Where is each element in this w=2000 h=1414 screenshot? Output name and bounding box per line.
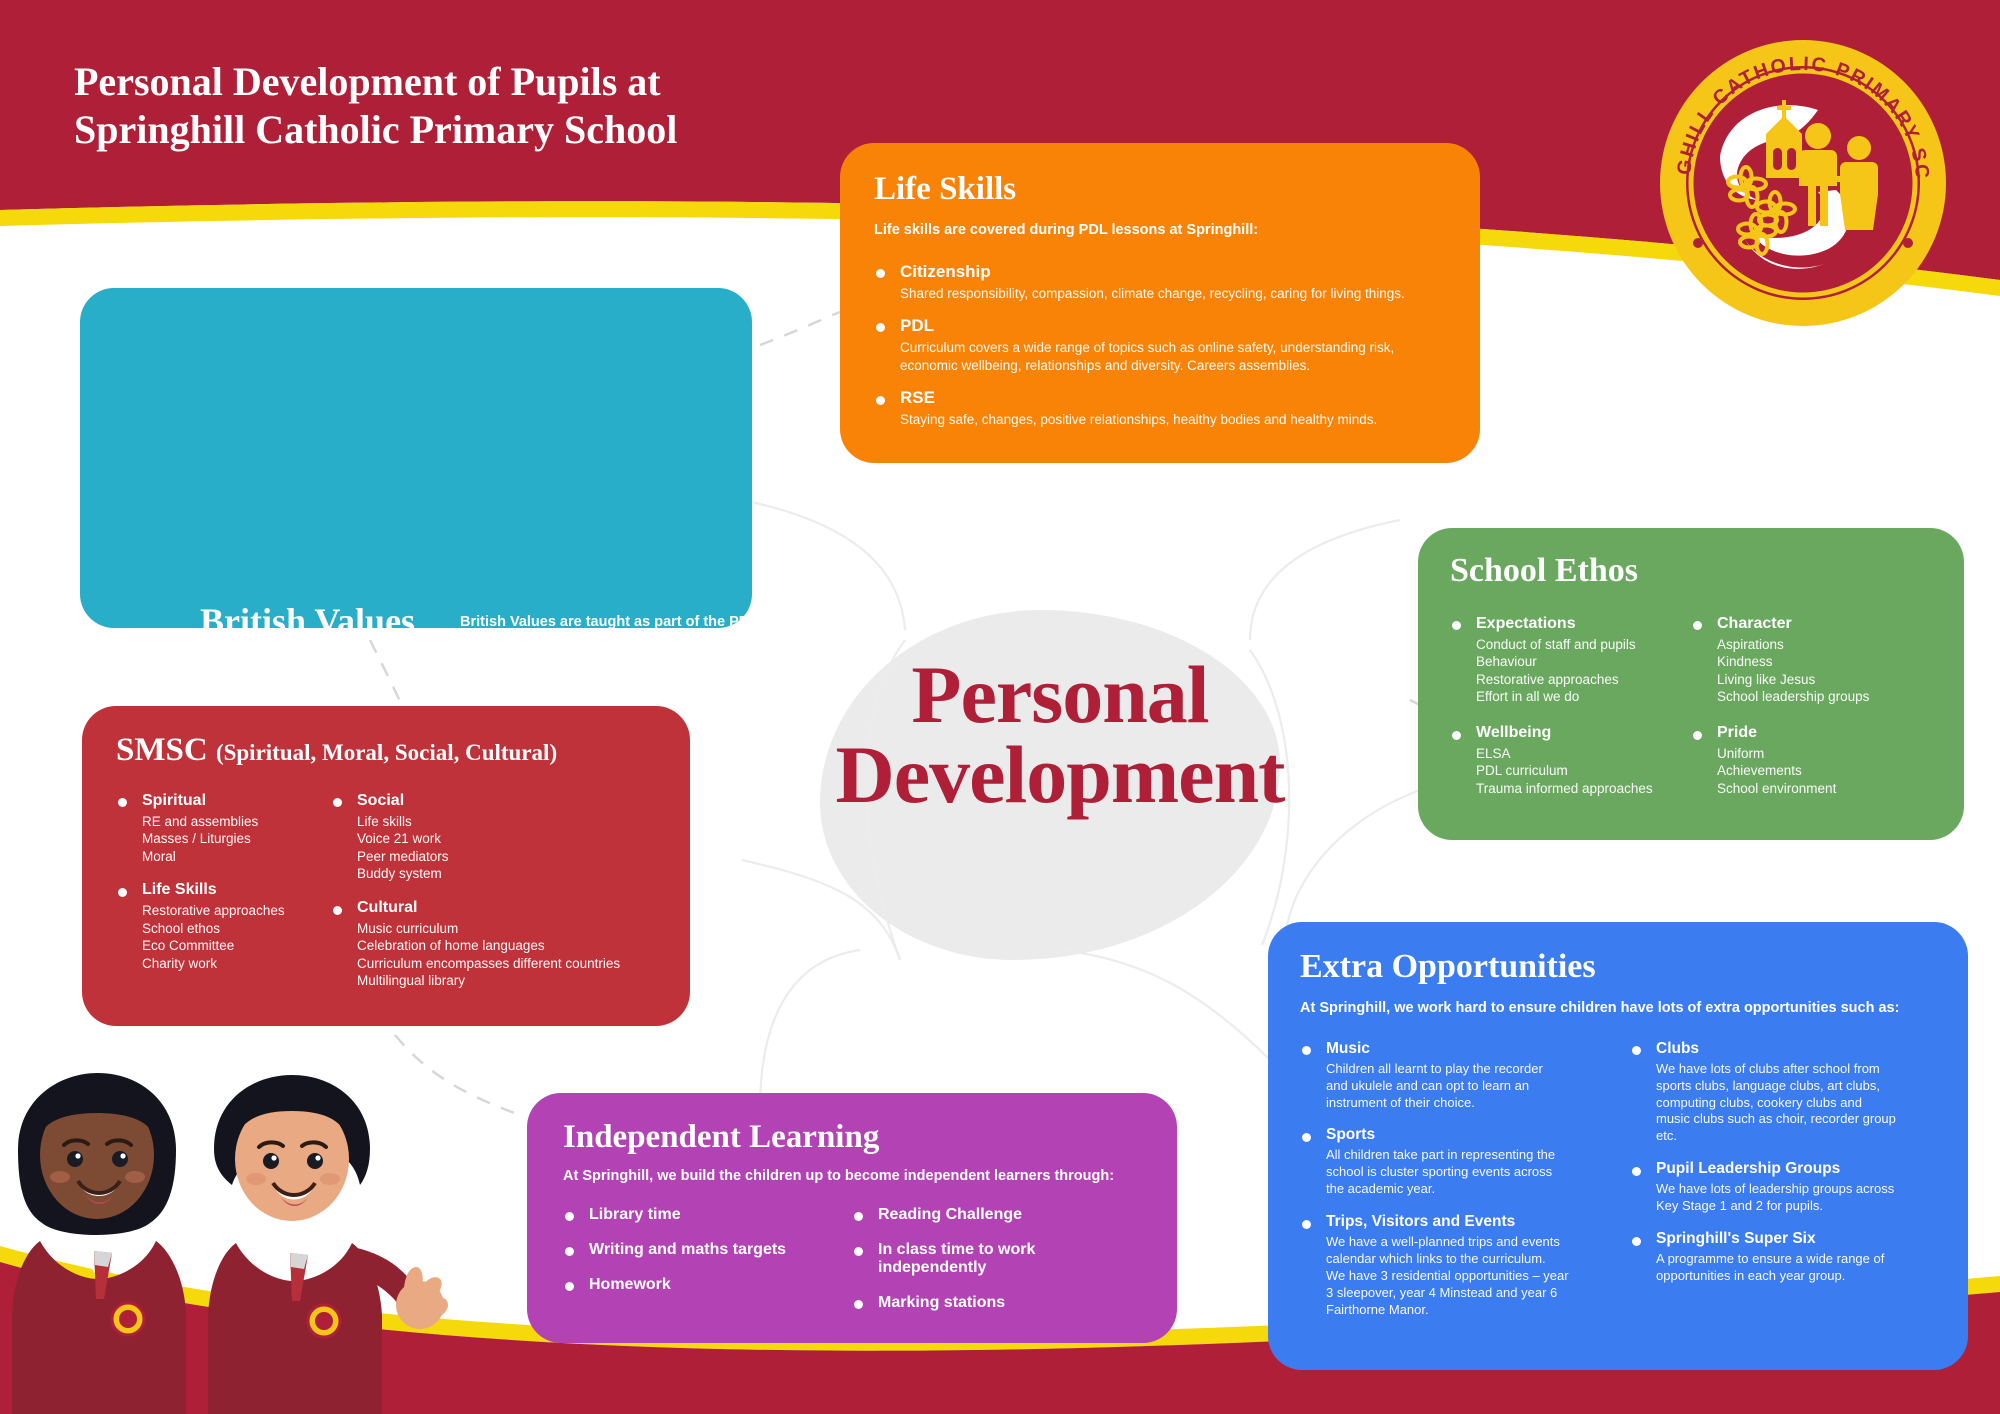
bullet-heading: Life Skills (116, 881, 331, 899)
bullet-group: Expectations Conduct of staff and pupils… (1450, 615, 1681, 706)
bullet-detail-line: Achievements (1717, 762, 1922, 780)
pupils-illustration (0, 1055, 470, 1414)
bullet-detail-line: We have 3 residential opportunities – ye… (1326, 1268, 1614, 1285)
bullet-heading: Trips, Visitors and Events (1300, 1213, 1614, 1231)
bullet-heading: Pride (1691, 724, 1922, 742)
bullet-detail-line: Eco Committee (142, 937, 331, 955)
bullet-heading: Springhill's Super Six (1630, 1230, 1936, 1248)
bullet-detail-line: We have lots of leadership groups across (1656, 1181, 1936, 1198)
bullet-detail-line: All children take part in representing t… (1326, 1147, 1614, 1164)
bullet-heading: PDL (874, 316, 1446, 336)
centre-label-line2: Development (730, 735, 1390, 815)
bullet-detail-line: Effort in all we do (1476, 688, 1681, 706)
bullet-detail-line: and ukulele and can opt to learn an (1326, 1078, 1614, 1095)
bullet-detail-line: PDL curriculum (1476, 762, 1681, 780)
bullet-detail-line: Key Stage 1 and 2 for pupils. (1656, 1198, 1936, 1215)
bullet-heading: Mutual Respect (507, 678, 822, 697)
bullet-detail-line: School leadership groups (1717, 688, 1922, 706)
bullet-heading: Cultural (331, 899, 656, 917)
card-extra-opportunities-intro: At Springhill, we work hard to ensure ch… (1300, 999, 1936, 1018)
page-title-line1: Personal Development of Pupils at (74, 58, 677, 106)
bullet-detail-line: RE and assemblies (142, 813, 331, 831)
bullet-detail: Aspirations Kindness Living like Jesus S… (1691, 636, 1922, 706)
list-item: Library time (563, 1206, 852, 1224)
school-crest-logo: SPRINGHILL CATHOLIC PRIMARY SCHOOL SOUTH… (1658, 38, 1948, 328)
bullet-detail-line: Trauma informed approaches (1476, 780, 1681, 798)
bullet-detail-line: Charity work (142, 955, 331, 973)
bullet-detail-line: instrument of their choice. (1326, 1095, 1614, 1112)
card-british-values[interactable]: British Values British Values are taught… (80, 288, 752, 628)
bullet-detail-line: Voice 21 work (357, 830, 656, 848)
bullet-detail-line: Peer mediators (357, 848, 656, 866)
bullet-detail-line: sports clubs, language clubs, art clubs, (1656, 1078, 1936, 1095)
bullet-heading: Clubs (1630, 1040, 1936, 1058)
bullet-detail: We have lots of leadership groups across… (1630, 1181, 1936, 1215)
card-independent-learning-title: Independent Learning (563, 1121, 1141, 1155)
bullet-detail-line: School environment (1717, 780, 1922, 798)
bullet-detail-line: Music curriculum (357, 920, 656, 938)
bullet-detail-line: opportunities in each year group. (1656, 1268, 1936, 1285)
bullet-group: Clubs We have lots of clubs after school… (1630, 1040, 1936, 1145)
bullet-detail-line: Children all learnt to play the recorder (1326, 1061, 1614, 1078)
card-british-values-title: British Values (200, 603, 415, 640)
card-smsc[interactable]: SMSC (Spiritual, Moral, Social, Cultural… (82, 706, 690, 1026)
bullet-group: RSE Staying safe, changes, positive rela… (874, 388, 1446, 429)
bullet-detail: A programme to ensure a wide range of op… (1630, 1251, 1936, 1285)
pupil-boy (208, 1075, 448, 1414)
bullet-detail: All children take part in representing t… (1300, 1147, 1614, 1198)
bullet-detail-line: Aspirations (1717, 636, 1922, 654)
card-school-ethos[interactable]: School Ethos Expectations Conduct of sta… (1418, 528, 1964, 840)
bullet-detail-line: Shared responsibility, compassion, clima… (900, 285, 1446, 303)
independent-learning-right-column: Reading Challenge In class time to work … (852, 1206, 1141, 1329)
centre-label-line1: Personal (730, 655, 1390, 735)
centre-label: Personal Development (730, 655, 1390, 814)
bullet-detail: Curriculum covers a wide range of topics… (874, 339, 1446, 374)
bullet-detail-line: A programme to ensure a wide range of (1656, 1251, 1936, 1268)
bullet-group: Pride Uniform Achievements School enviro… (1691, 724, 1922, 798)
bullet-heading: RSE (874, 388, 1446, 408)
bullet-detail-line: school is cluster sporting events across (1326, 1164, 1614, 1181)
independent-learning-left-column: Library time Writing and maths targets H… (563, 1206, 852, 1329)
bullet-detail: We have lots of clubs after school from … (1630, 1061, 1936, 1145)
bullet-detail-line: 3 sleepover, year 4 Minstead and year 6 (1326, 1285, 1614, 1302)
bullet-group: Wellbeing ELSA PDL curriculum Trauma inf… (1450, 724, 1681, 798)
bullet-detail-line: We have a well-planned trips and events (1326, 1234, 1614, 1251)
card-school-ethos-title: School Ethos (1450, 554, 1932, 589)
bullet-group: Life Skills Restorative approaches Schoo… (116, 881, 331, 972)
bullet-detail: Uniform Achievements School environment (1691, 745, 1922, 798)
card-extra-opportunities-title: Extra Opportunities (1300, 950, 1936, 985)
bullet-detail-line: Conduct of staff and pupils (1476, 636, 1681, 654)
bullet-detail-line: Moral (142, 848, 331, 866)
bullet-detail-line: Staying safe, changes, positive relation… (900, 411, 1446, 429)
bullet-detail: Shared responsibility, compassion, clima… (874, 285, 1446, 303)
poster-canvas: Personal Development of Pupils at Spring… (0, 0, 2000, 1414)
bullet-detail: Restorative approaches School ethos Eco … (116, 902, 331, 972)
bullet-detail: RE and assemblies Masses / Liturgies Mor… (116, 813, 331, 866)
bullet-detail: Life skills Voice 21 work Peer mediators… (331, 813, 656, 883)
list-item: Reading Challenge (852, 1206, 1141, 1224)
bullet-heading: Sports (1300, 1126, 1614, 1144)
list-item: Homework (563, 1276, 852, 1294)
bullet-detail: Staying safe, changes, positive relation… (874, 411, 1446, 429)
bullet-detail-line: computing clubs, cookery clubs and (1656, 1095, 1936, 1112)
bullet-heading: Expectations (1450, 615, 1681, 633)
bullet-group: Spiritual RE and assemblies Masses / Lit… (116, 792, 331, 866)
list-item: Marking stations (852, 1294, 1141, 1312)
bullet-detail: We have a well-planned trips and events … (1300, 1234, 1614, 1318)
bullet-group: Character Aspirations Kindness Living li… (1691, 615, 1922, 706)
bullet-detail-line: Life skills (357, 813, 656, 831)
card-independent-learning-intro: At Springhill, we build the children up … (563, 1167, 1141, 1186)
bullet-heading: Pupil Leadership Groups (1630, 1160, 1936, 1178)
bullet-group: Citizenship Shared responsibility, compa… (874, 262, 1446, 303)
smsc-right-column: Social Life skills Voice 21 work Peer me… (331, 792, 656, 1006)
smsc-left-column: Spiritual RE and assemblies Masses / Lit… (116, 792, 331, 1006)
page-title-line2: Springhill Catholic Primary School (74, 106, 677, 154)
bullet-detail-line: music clubs such as choir, recorder grou… (1656, 1111, 1936, 1128)
pupil-girl (12, 1073, 186, 1414)
card-smsc-title-main: SMSC (116, 732, 208, 768)
bullet-detail-line: Celebration of home languages (357, 937, 656, 955)
bullet-heading: Spiritual (116, 792, 331, 810)
bullet-group: Trips, Visitors and Events We have a wel… (1300, 1213, 1614, 1318)
bullet-detail-line: calendar which links to the curriculum. (1326, 1251, 1614, 1268)
card-british-values-intro: British Values are taught as part of the… (460, 613, 790, 651)
bullet-heading: Character (1691, 615, 1922, 633)
bullet-detail: ELSA PDL curriculum Trauma informed appr… (1450, 745, 1681, 798)
bullet-detail-line: Curriculum encompasses different countri… (357, 955, 656, 973)
bullet-detail-line: the academic year. (1326, 1181, 1614, 1198)
bullet-heading: Citizenship (874, 262, 1446, 282)
extra-opportunities-right-column: Clubs We have lots of clubs after school… (1630, 1040, 1936, 1334)
bullet-group: PDL Curriculum covers a wide range of to… (874, 316, 1446, 374)
card-smsc-title: SMSC (Spiritual, Moral, Social, Cultural… (116, 734, 656, 768)
card-life-skills-title: Life Skills (874, 173, 1446, 207)
bullet-detail-line: Multilingual library (357, 972, 656, 990)
bullet-detail-line: School ethos (142, 920, 331, 938)
bullet-group: Pupil Leadership Groups We have lots of … (1630, 1160, 1936, 1215)
bullet-detail-line: ELSA (1476, 745, 1681, 763)
bullet-detail-line: We have lots of clubs after school from (1656, 1061, 1936, 1078)
school-ethos-left-column: Expectations Conduct of staff and pupils… (1450, 615, 1691, 816)
bullet-heading: Music (1300, 1040, 1614, 1058)
bullet-group: Springhill's Super Six A programme to en… (1630, 1230, 1936, 1285)
card-extra-opportunities[interactable]: Extra Opportunities At Springhill, we wo… (1268, 922, 1968, 1370)
bullet-group: Sports All children take part in represe… (1300, 1126, 1614, 1198)
card-smsc-title-sub: (Spiritual, Moral, Social, Cultural) (216, 740, 557, 765)
list-item: Writing and maths targets (563, 1241, 852, 1259)
bullet-heading: Wellbeing (1450, 724, 1681, 742)
bullet-heading: Democracy (192, 678, 507, 697)
bullet-detail-line: Uniform (1717, 745, 1922, 763)
bullet-detail-line: Restorative approaches (142, 902, 331, 920)
bullet-heading: Social (331, 792, 656, 810)
bullet-detail-line: Curriculum covers a wide range of topics… (900, 339, 1446, 357)
bullet-detail-line: economic wellbeing, relationships and di… (900, 357, 1446, 375)
card-independent-learning[interactable]: Independent Learning At Springhill, we b… (527, 1093, 1177, 1343)
bullet-detail-line: Restorative approaches (1476, 671, 1681, 689)
bullet-group: Cultural Music curriculum Celebration of… (331, 899, 656, 990)
bullet-group: Social Life skills Voice 21 work Peer me… (331, 792, 656, 883)
bullet-detail-line: Buddy system (357, 865, 656, 883)
bullet-group: Music Children all learnt to play the re… (1300, 1040, 1614, 1112)
bullet-detail-line: Living like Jesus (1717, 671, 1922, 689)
bullet-detail-line: Kindness (1717, 653, 1922, 671)
card-life-skills[interactable]: Life Skills Life skills are covered duri… (840, 143, 1480, 463)
bullet-detail-line: Fairthorne Manor. (1326, 1302, 1614, 1319)
bullet-detail: Children all learnt to play the recorder… (1300, 1061, 1614, 1112)
bullet-detail: Music curriculum Celebration of home lan… (331, 920, 656, 990)
school-ethos-right-column: Character Aspirations Kindness Living li… (1691, 615, 1932, 816)
bullet-detail-line: Masses / Liturgies (142, 830, 331, 848)
bullet-detail-line: etc. (1656, 1128, 1936, 1145)
page-title: Personal Development of Pupils at Spring… (74, 58, 677, 154)
bullet-detail: Conduct of staff and pupils Behaviour Re… (1450, 636, 1681, 706)
extra-opportunities-left-column: Music Children all learnt to play the re… (1300, 1040, 1630, 1334)
card-life-skills-intro: Life skills are covered during PDL lesso… (874, 221, 1446, 240)
list-item: In class time to work independently (852, 1241, 1141, 1277)
bullet-detail-line: Behaviour (1476, 653, 1681, 671)
